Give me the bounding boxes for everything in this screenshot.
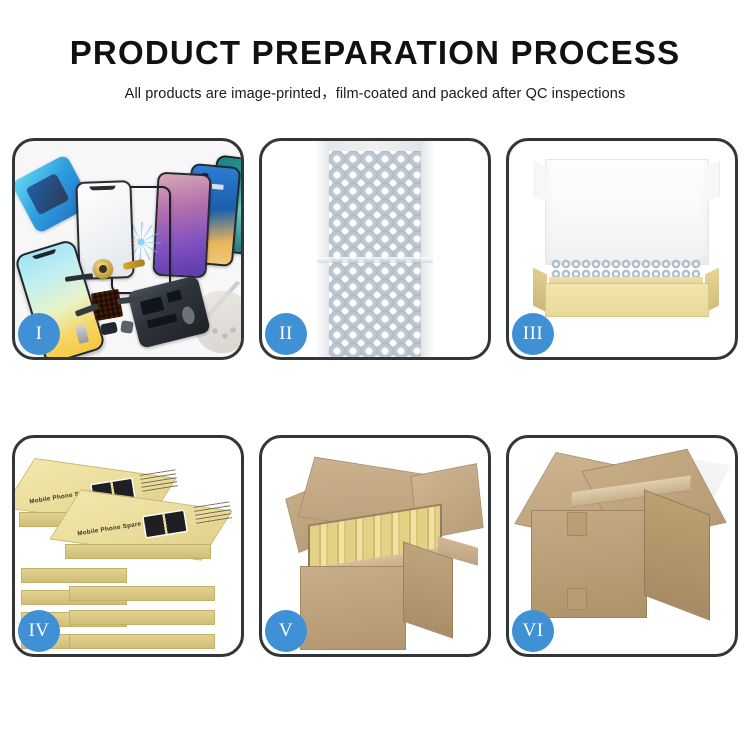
header: PRODUCT PREPARATION PROCESS All products… [0, 0, 750, 103]
screws-icon [211, 327, 237, 343]
wrap-edge-icon [317, 141, 328, 357]
carton-front-face-icon [300, 566, 406, 650]
step-badge-1: I [18, 313, 60, 355]
step-badge-2: II [265, 313, 307, 355]
process-step-panel-3[interactable]: III [506, 138, 738, 360]
bubbles-pattern-icon [329, 151, 421, 357]
box-side-icon [21, 568, 127, 583]
chip-icon [166, 290, 182, 303]
box-side-icon [69, 610, 215, 625]
chip-icon [140, 296, 165, 315]
carton-seam-tab-icon [567, 588, 587, 610]
box-side-icon [69, 586, 215, 601]
wrap-edge-icon [422, 141, 433, 357]
page-title: PRODUCT PREPARATION PROCESS [0, 0, 750, 71]
process-step-panel-5[interactable]: V [259, 435, 491, 657]
process-step-panel-4[interactable]: Mobile Phone Spare Parts Mobile Phone Sp… [12, 435, 244, 657]
process-step-panel-6[interactable]: VI [506, 435, 738, 657]
speaker-icon [100, 321, 118, 335]
process-steps-grid: I II III [12, 138, 738, 657]
foam-insert-icon [553, 195, 699, 261]
box-side-icon [69, 634, 215, 649]
chip-icon [146, 313, 177, 328]
wrap-fold-icon [317, 257, 433, 263]
step-badge-6: VI [512, 610, 554, 652]
vibration-motor-icon [93, 259, 113, 279]
page-subtitle: All products are image-printed，film-coat… [0, 71, 750, 103]
carton-side-face-icon [403, 541, 453, 638]
step-badge-4: IV [18, 610, 60, 652]
step-badge-5: V [265, 610, 307, 652]
camera-module-icon [180, 305, 196, 325]
box-side-icon [65, 544, 211, 559]
box-label-spec-lines-icon [194, 501, 233, 526]
camera-icon [120, 320, 134, 334]
carton-seam-tab-icon [567, 512, 587, 536]
bubble-wrap-sleeve-icon [317, 141, 433, 357]
step-badge-3: III [512, 313, 554, 355]
process-step-panel-1[interactable]: I [12, 138, 244, 360]
process-step-panel-2[interactable]: II [259, 138, 491, 360]
box-label-spec-lines-icon [140, 469, 179, 494]
box-front-face-icon [545, 283, 709, 317]
carton-front-face-icon [531, 510, 647, 618]
